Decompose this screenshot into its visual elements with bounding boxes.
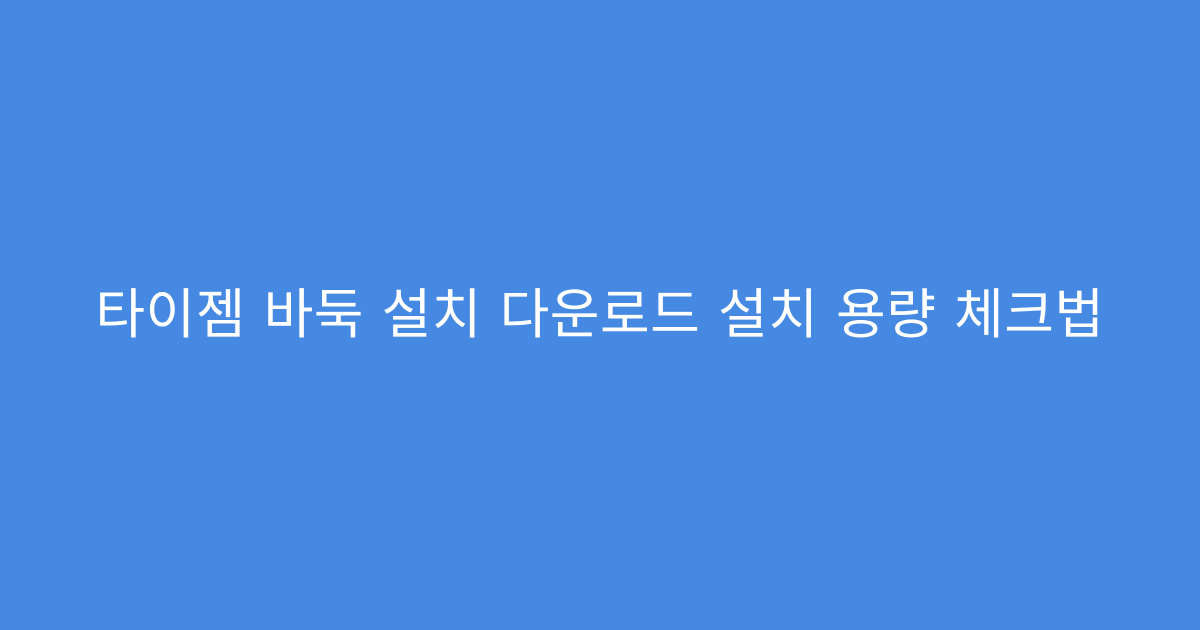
title-container: 타이젬 바둑 설치 다운로드 설치 용량 체크법	[0, 279, 1200, 352]
page-title: 타이젬 바둑 설치 다운로드 설치 용량 체크법	[95, 279, 1104, 352]
og-title-card: 타이젬 바둑 설치 다운로드 설치 용량 체크법	[0, 0, 1200, 630]
